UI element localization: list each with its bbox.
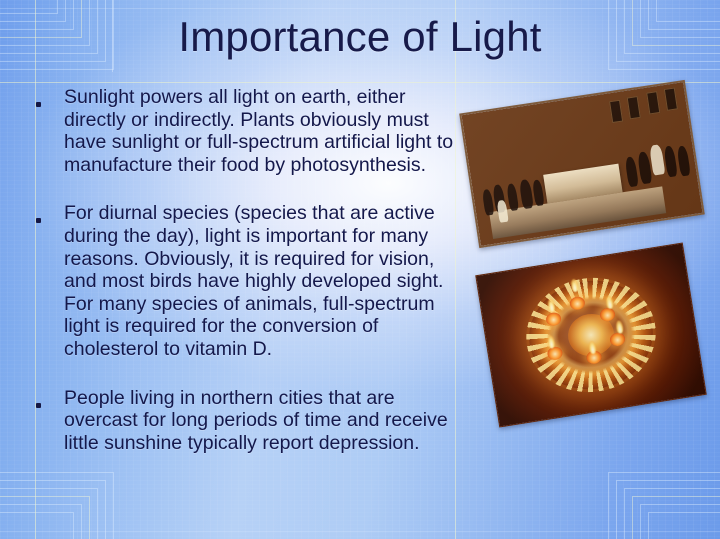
slide-title-block: Importance of Light [0, 14, 720, 59]
building-window [626, 96, 640, 119]
diya-rangoli-image [476, 244, 705, 427]
crowd-figure-white-shirt [650, 144, 666, 175]
building-window [609, 100, 623, 123]
crowd-figure [506, 183, 519, 211]
crowd-figure [519, 178, 534, 208]
bullet-text: For diurnal species (species that are ac… [64, 202, 460, 360]
crowd-figure [663, 145, 677, 177]
building-window [646, 91, 660, 114]
building-window [664, 87, 678, 110]
list-item: For diurnal species (species that are ac… [36, 202, 460, 360]
crowd-figure-white-shirt [497, 199, 509, 222]
bullet-text: Sunlight powers all light on earth, eith… [64, 86, 460, 176]
square-bullet-icon [36, 387, 64, 411]
square-bullet-icon [36, 86, 64, 110]
crowd-figure [482, 188, 495, 215]
bullet-list: Sunlight powers all light on earth, eith… [36, 86, 460, 455]
bullet-text: People living in northern cities that ar… [64, 387, 460, 455]
list-item: Sunlight powers all light on earth, eith… [36, 86, 460, 176]
crowd-figure [677, 146, 691, 177]
crowd-figure [624, 156, 638, 187]
page-title: Importance of Light [178, 14, 541, 59]
square-bullet-icon [36, 202, 64, 226]
diya-rangoli-photo [475, 243, 707, 428]
list-item: People living in northern cities that ar… [36, 387, 460, 455]
slide-canvas: Importance of Light Sunlight powers all … [0, 0, 720, 539]
